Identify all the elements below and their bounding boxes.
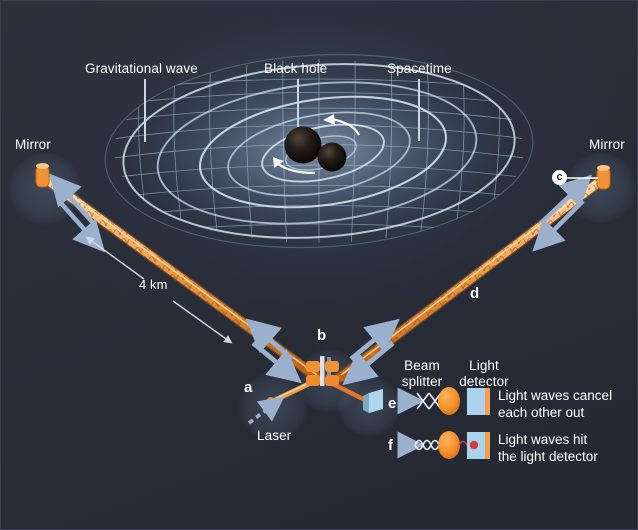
legend-row-f-text: Light waves hit the light detector: [498, 432, 598, 466]
legend-row-e-line1: Light waves cancel: [498, 388, 612, 403]
legend-row-e-line2: each other out: [498, 405, 584, 420]
legend-row-e-text: Light waves cancel each other out: [498, 388, 612, 422]
legend-row-f-line1: Light waves hit: [498, 432, 587, 447]
legend-row-e-graphics: [399, 387, 490, 415]
legend-row-f-line2: the light detector: [498, 449, 598, 464]
diagram-canvas: Gravitational wave Black hole Spacetime: [0, 0, 638, 530]
legend-row-f-graphics: [399, 431, 490, 459]
